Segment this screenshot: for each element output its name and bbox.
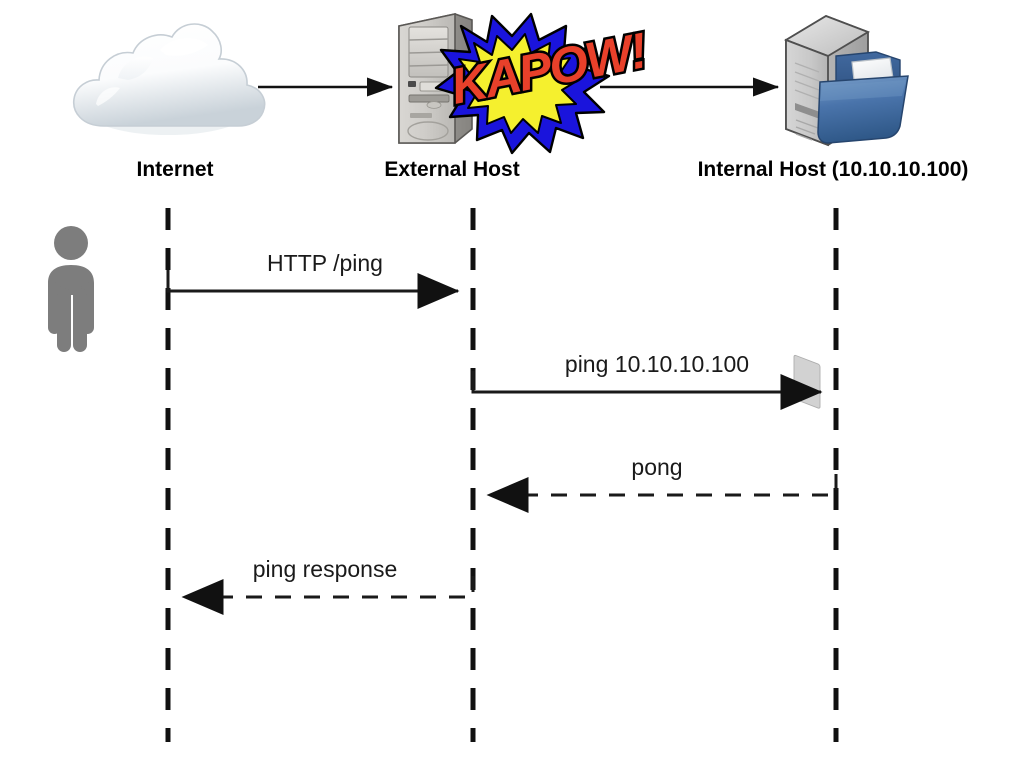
message-label-ping-internal: ping 10.10.10.100 bbox=[482, 351, 832, 378]
diagram-canvas: KAPOW! bbox=[0, 0, 1024, 768]
sequence-layer bbox=[0, 0, 1024, 768]
message-label-http-ping: HTTP /ping bbox=[175, 250, 475, 277]
message-label-pong: pong bbox=[482, 454, 832, 481]
message-label-ping-response: ping response bbox=[175, 556, 475, 583]
user-actor bbox=[48, 226, 94, 352]
